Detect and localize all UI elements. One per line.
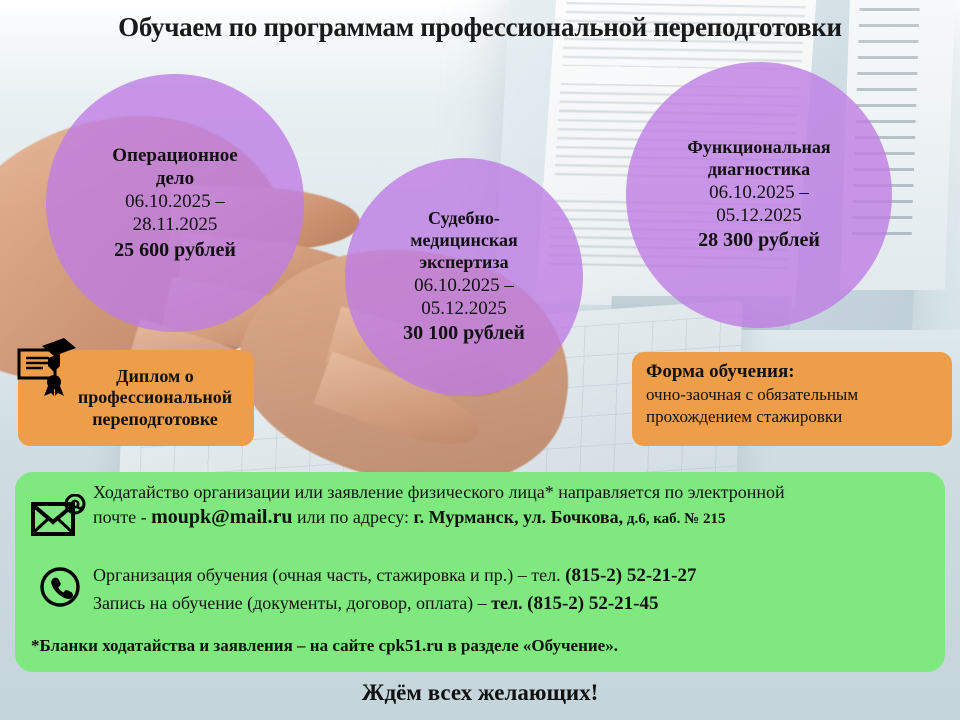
program-circle-sudebno-medicinskaya-ekspertiza: Судебно- медицинская экспертиза 06.10.20… [345,158,583,396]
program-name-line: Операционное [112,144,237,167]
diploma-certificate-icon [16,338,78,396]
phone-row-2-label: Запись на обучение (документы, договор, … [93,593,491,613]
mail-line-2-middle: или по адресу: [292,507,413,527]
program-name-line: диагностика [708,159,810,181]
program-date-end: 05.12.2025 [421,297,507,320]
contacts-phone-block: Организация обучения (очная часть, стажи… [93,562,939,617]
phone-circle-icon [39,566,81,608]
program-name-line: медицинская [410,230,517,252]
poster-slide: Обучаем по программам профессиональной п… [0,0,960,720]
program-date-start: 06.10.2025 – [414,274,514,297]
phone-number-2[interactable]: (815-2) 52-21-45 [527,593,658,614]
mail-line-2-prefix: почте - [93,507,151,527]
program-name-line: Судебно- [428,208,500,230]
contacts-footnote: *Бланки ходатайства и заявления – на сай… [31,636,931,656]
email-address[interactable]: moupk@mail.ru [151,506,292,528]
diploma-badge-line: Диплом о [78,366,232,388]
diploma-badge-line: переподготовке [78,409,232,431]
mail-line-1: Ходатайство организации или заявление фи… [93,482,785,502]
program-name-line: Функциональная [687,137,830,159]
program-circle-funkcionalnaya-diagnostika: Функциональная диагностика 06.10.2025 – … [626,62,892,328]
program-name-line: дело [156,167,194,190]
phone-row-2-tel-word: тел. [491,593,527,613]
contacts-mail-block: Ходатайство организации или заявление фи… [93,480,939,531]
postal-address: г. Мурманск, ул. Бочкова, [413,507,623,527]
program-date-start: 06.10.2025 – [125,190,225,213]
program-circle-operacionnoe-delo: Операционное дело 06.10.2025 – 28.11.202… [46,74,304,332]
study-form-line: прохождением стажировки [646,406,942,428]
postal-room: д.6, каб. № 215 [623,511,725,527]
program-price: 28 300 рублей [698,228,820,252]
contacts-box: Ходатайство организации или заявление фи… [15,472,945,672]
program-price: 25 600 рублей [114,238,236,262]
page-title: Обучаем по программам профессиональной п… [0,12,960,43]
phone-row-1-label: Организация обучения (очная часть, стажи… [93,565,565,585]
envelope-at-icon [31,494,87,540]
study-form-title: Форма обучения: [646,360,942,384]
phone-number-1[interactable]: (815-2) 52-21-27 [565,565,696,586]
program-date-end: 05.12.2025 [716,204,802,227]
study-form-line: очно-заочная с обязательным [646,384,942,406]
study-form-box: Форма обучения: очно-заочная с обязатель… [632,352,952,446]
closing-line: Ждём всех желающих! [0,680,960,706]
program-price: 30 100 рублей [403,321,525,345]
program-name-line: экспертиза [419,252,508,274]
diploma-badge-line: профессиональной [78,387,232,409]
program-date-end: 28.11.2025 [133,213,218,236]
program-date-start: 06.10.2025 – [709,181,809,204]
